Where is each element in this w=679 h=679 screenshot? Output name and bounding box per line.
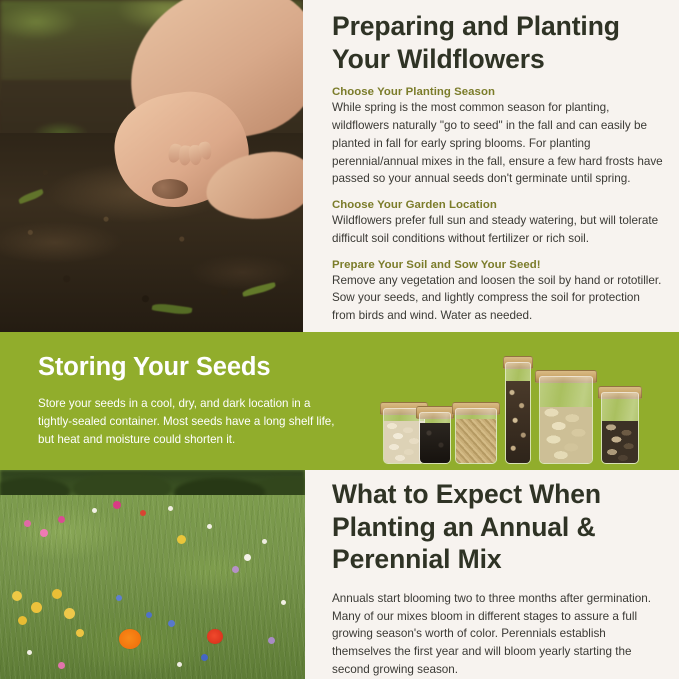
photo-wildflower-meadow [0,470,305,679]
flower-red [140,510,146,516]
jar-glass [601,392,639,464]
jar-glass [455,408,497,464]
photo-hands-sowing-seeds [0,0,303,332]
jar-glass [505,362,531,464]
flower-lilac [232,566,239,573]
body-prepare-soil: Remove any vegetation and loosen the soi… [332,272,665,325]
flower-pink [40,529,48,537]
jar-glass [419,412,451,464]
headline-line-2: Your Wildflowers [332,44,545,74]
headline-line-3: Perennial Mix [332,544,502,574]
seed-fill [420,423,450,463]
flower-magenta [58,516,65,523]
jar-tall-dark-speck [505,356,531,464]
flower-yellow [64,608,75,619]
flower-orange-poppy [119,629,141,649]
page-title-expect: What to Expect When Planting an Annual &… [332,478,665,576]
preparing-text-column: Preparing and Planting Your Wildflowers … [330,0,679,332]
seed-fill [602,421,638,463]
section-what-to-expect: What to Expect When Planting an Annual &… [0,470,679,679]
jar-tan-grain [455,402,497,464]
expect-text-column: What to Expect When Planting an Annual &… [330,470,679,679]
photo-seed-jars [383,352,665,470]
seed-fill [540,407,592,463]
infographic-page: Preparing and Planting Your Wildflowers … [0,0,679,679]
subhead-garden-location: Choose Your Garden Location [332,199,665,211]
subhead-planting-season: Choose Your Planting Season [332,86,665,98]
jar-glass [539,376,593,464]
page-title-storing: Storing Your Seeds [38,352,338,383]
storing-text-column: Storing Your Seeds Store your seeds in a… [38,352,338,449]
body-expect: Annuals start blooming two to three mont… [332,590,665,679]
flower-white [168,506,173,511]
seed-fill [384,421,424,463]
flower-yellow [177,535,186,544]
seed-fill [506,381,530,463]
section-storing-your-seeds: Storing Your Seeds Store your seeds in a… [0,332,679,470]
section-preparing-and-planting: Preparing and Planting Your Wildflowers … [0,0,679,332]
flower-yellow [31,602,42,613]
jar-pumpkin-seeds [539,370,593,464]
body-storing: Store your seeds in a cool, dry, and dar… [38,395,338,449]
headline-line-1: Preparing and Planting [332,11,620,41]
flower-yellow [52,589,62,599]
body-garden-location: Wildflowers prefer full sun and steady w… [332,212,665,248]
body-planting-season: While spring is the most common season f… [332,99,665,188]
flower-white [244,554,251,561]
headline-line-2: Planting an Annual & [332,512,596,542]
seeds-in-hand [152,179,188,199]
meadow-grass-texture [0,495,305,679]
page-title-preparing: Preparing and Planting Your Wildflowers [332,10,665,75]
jar-black-seeds [419,406,451,464]
seed-fill [456,419,496,463]
jar-mixed-dark [601,386,639,464]
flower-white [92,508,97,513]
subhead-prepare-soil: Prepare Your Soil and Sow Your Seed! [332,259,665,271]
flower-white [281,600,286,605]
headline-line-1: What to Expect When [332,479,601,509]
